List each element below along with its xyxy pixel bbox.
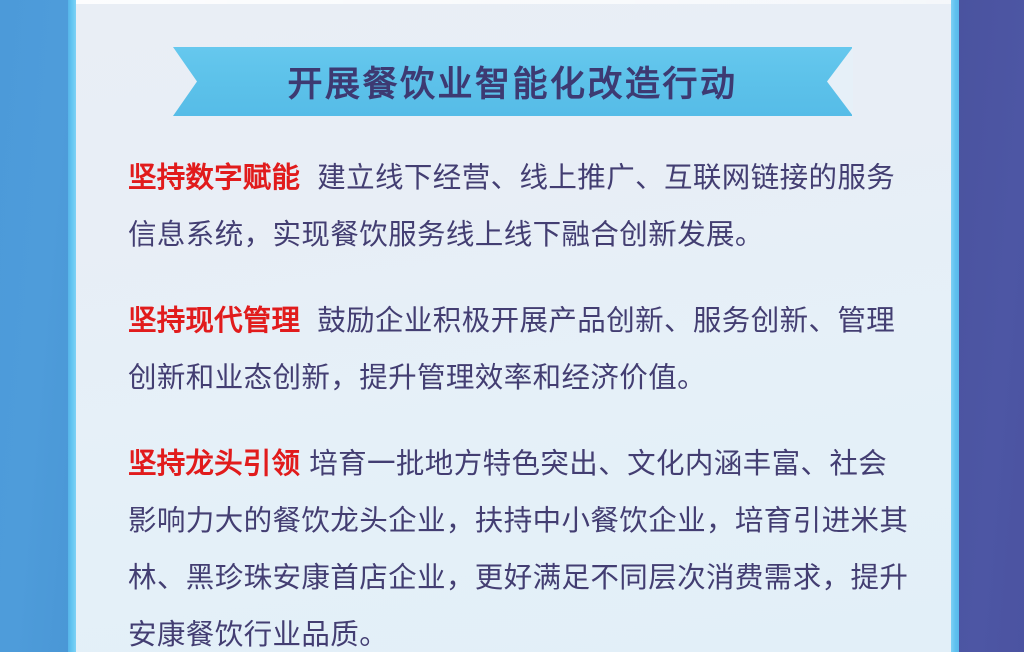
right-accent-stripe [951, 0, 959, 652]
right-decorative-band [959, 0, 1024, 652]
banner-title: 开展餐饮业智能化改造行动 [173, 47, 852, 116]
left-decorative-band [0, 0, 68, 652]
paragraph-3: 坚持龙头引领培育一批地方特色突出、文化内涵丰富、社会影响力大的餐饮龙头企业，扶持… [128, 436, 910, 652]
body-content: 坚持数字赋能建立线下经营、线上推广、互联网链接的服务信息系统，实现餐饮服务线上线… [128, 150, 910, 652]
sheet-top-highlight [76, 0, 951, 4]
poster-root: 开展餐饮业智能化改造行动 坚持数字赋能建立线下经营、线上推广、互联网链接的服务信… [0, 0, 1024, 652]
paragraph-2: 坚持现代管理鼓励企业积极开展产品创新、服务创新、管理创新和业态创新，提升管理效率… [128, 293, 910, 407]
paragraph-1-heading: 坚持数字赋能 [128, 162, 300, 194]
left-accent-stripe [68, 0, 76, 652]
paragraph-3-heading: 坚持龙头引领 [128, 448, 300, 480]
paragraph-2-heading: 坚持现代管理 [128, 305, 300, 337]
paragraph-1: 坚持数字赋能建立线下经营、线上推广、互联网链接的服务信息系统，实现餐饮服务线上线… [128, 150, 910, 264]
